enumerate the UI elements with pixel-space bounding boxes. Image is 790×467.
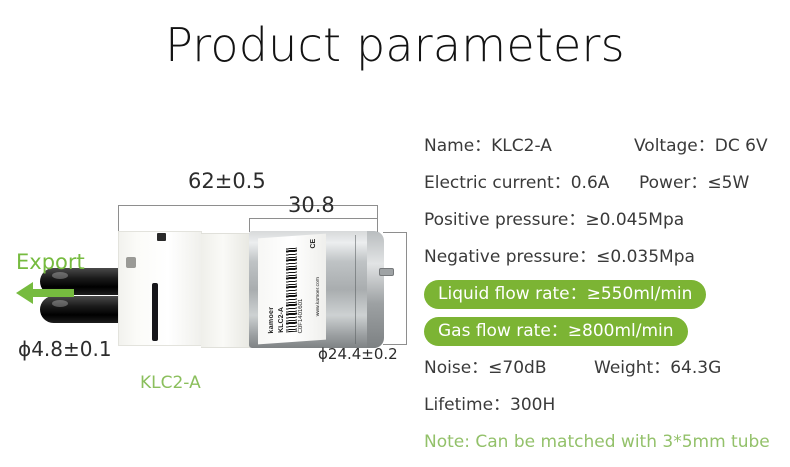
pump-head-slot — [152, 283, 158, 341]
spec-row: Noise：≤70dBWeight：64.3G — [424, 350, 790, 387]
dimension-label-motor-diameter: ɸ24.4±0.2 — [318, 345, 398, 363]
spec-label-primary: Negative pressure：≤0.035Mpa — [424, 239, 695, 276]
dimension-label-overall-length: 62±0.5 — [188, 169, 266, 193]
barcode-icon — [286, 248, 297, 333]
spec-row: Name：KLC2-AVoltage：DC 6V — [424, 128, 790, 165]
spec-row: Negative pressure：≤0.035Mpa — [424, 239, 790, 276]
spec-row: Liquid flow rate：≥550ml/min — [424, 276, 790, 313]
spec-row: Lifetime：300H — [424, 387, 790, 424]
motor-endcap — [367, 231, 384, 348]
spec-highlight-pill: Liquid flow rate：≥550ml/min — [424, 280, 706, 309]
dimension-bracket-motor-length — [249, 218, 378, 232]
spec-label-primary: Liquid flow rate：≥550ml/min — [424, 276, 706, 313]
specification-list: Name：KLC2-AVoltage：DC 6VElectric current… — [424, 128, 790, 461]
motor-label-serial: C0F1401601 — [298, 298, 304, 333]
diagram-caption: KLC2-A — [140, 373, 201, 393]
spec-label-primary: Positive pressure：≥0.045Mpa — [424, 202, 684, 239]
motor-label: CE kamoer KLC2-A C0F1401601 www.kamoer.c… — [258, 234, 326, 345]
spec-label-primary: Gas flow rate：≥800ml/min — [424, 313, 688, 350]
motor-label-model: KLC2-A — [278, 307, 285, 333]
motor-seam — [355, 235, 356, 344]
pump-head-nub — [157, 233, 166, 241]
motor-label-brand: kamoer — [268, 306, 275, 333]
spec-label-secondary: Voltage：DC 6V — [634, 128, 768, 165]
arrow-head — [16, 282, 33, 304]
arrow-shaft — [30, 289, 74, 297]
export-arrow-icon — [16, 282, 74, 304]
export-label: Export — [16, 250, 85, 274]
product-diagram: CE kamoer KLC2-A C0F1401601 www.kamoer.c… — [0, 105, 410, 425]
spec-highlight-pill: Gas flow rate：≥800ml/min — [424, 317, 688, 346]
spec-row: Electric current：0.6APower：≤5W — [424, 165, 790, 202]
dimension-label-port-diameter: ɸ4.8±0.1 — [18, 337, 112, 361]
pump-coupler — [201, 233, 250, 348]
motor-label-website: www.kamoer.com — [315, 277, 321, 317]
spec-row: Positive pressure：≥0.045Mpa — [424, 202, 790, 239]
ce-mark-icon: CE — [310, 239, 317, 249]
dimension-label-motor-length: 30.8 — [288, 193, 335, 217]
spec-row: Note: Can be matched with 3*5mm tube — [424, 424, 790, 461]
spec-label-primary: Electric current：0.6A — [424, 165, 609, 202]
spec-label-primary: Lifetime：300H — [424, 387, 555, 424]
spec-label-secondary: Power：≤5W — [639, 165, 749, 202]
spec-label-primary: Noise：≤70dB — [424, 350, 547, 387]
spec-note: Note: Can be matched with 3*5mm tube — [424, 424, 770, 461]
spec-label-primary: Name：KLC2-A — [424, 128, 552, 165]
spec-label-secondary: Weight：64.3G — [594, 350, 721, 387]
spec-row: Gas flow rate：≥800ml/min — [424, 313, 790, 350]
pump-head-screw — [126, 257, 136, 268]
page-title: Product parameters — [0, 18, 790, 72]
dimension-bracket-motor-diameter — [383, 232, 407, 345]
pump-head — [118, 231, 202, 346]
